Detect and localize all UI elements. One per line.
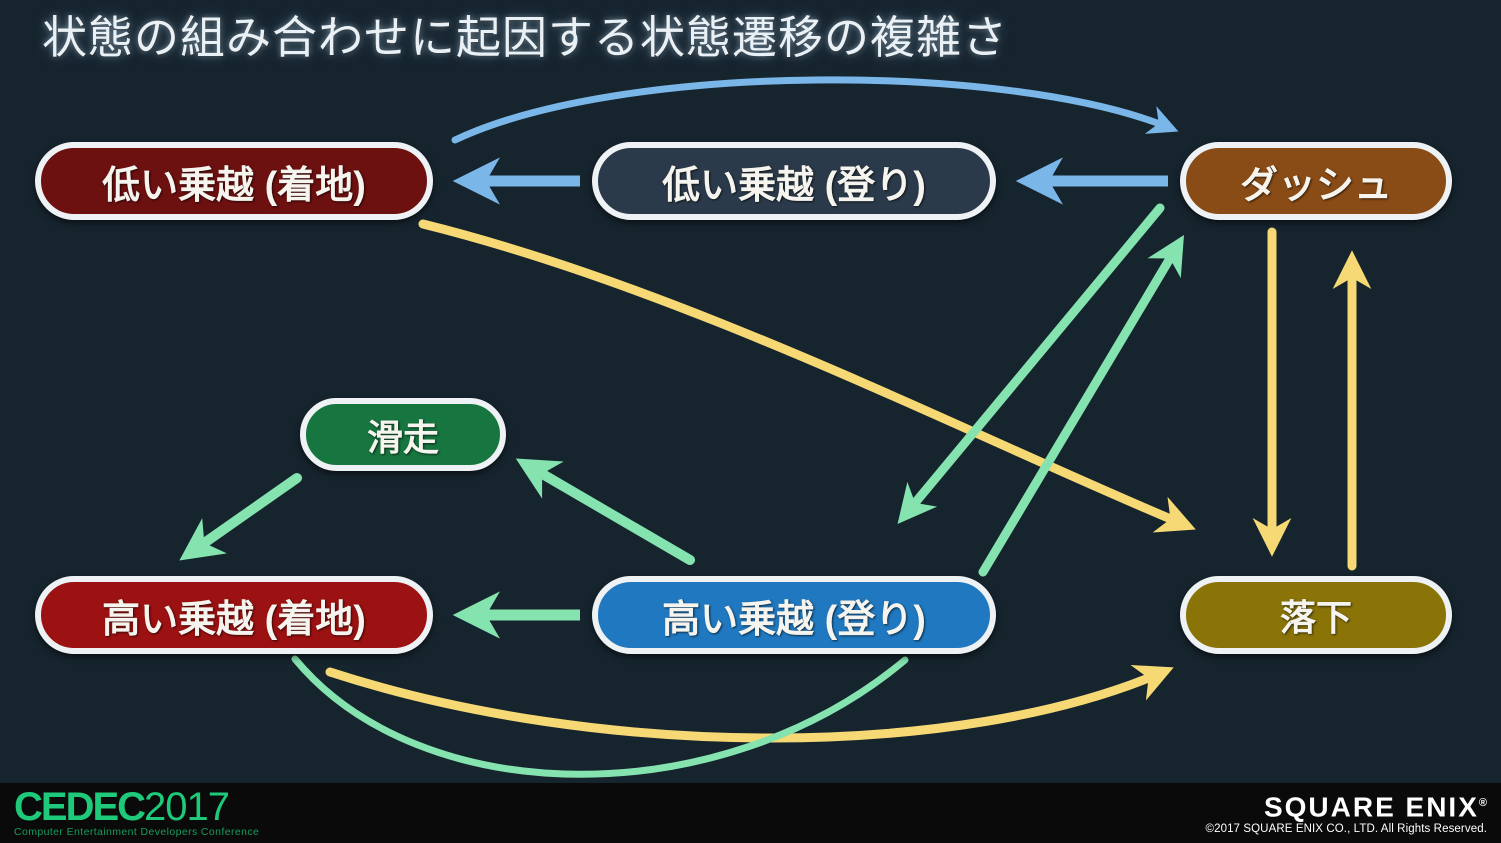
square-enix-wordmark: SQUARE ENIX® xyxy=(1206,788,1488,822)
registered-trademark-icon: ® xyxy=(1479,797,1487,809)
arrow-low-land-to-fall xyxy=(423,224,1185,525)
cedec-wordmark-year: 2017 xyxy=(144,789,229,825)
arrow-high-climb-to-dash xyxy=(983,245,1178,572)
arrow-slide-to-high-land xyxy=(190,478,297,553)
slide-canvas: 状態の組み合わせに起因する状態遷移の複雑さ xyxy=(0,0,1501,843)
state-node-label: 高い乗越 (着地) xyxy=(102,588,366,643)
state-node-high-vault-land[interactable]: 高い乗越 (着地) xyxy=(35,576,433,654)
state-node-label: ダッシュ xyxy=(1240,154,1392,209)
transition-arrows-layer xyxy=(0,0,1501,843)
state-node-low-vault-climb[interactable]: 低い乗越 (登り) xyxy=(592,142,996,220)
state-node-label: 高い乗越 (登り) xyxy=(662,588,926,643)
slide-footer: CEDEC2017 Computer Entertainment Develop… xyxy=(0,783,1501,843)
square-enix-wordmark-text: SQUARE ENIX xyxy=(1264,791,1479,822)
state-node-label: 滑走 xyxy=(367,409,439,461)
arrow-high-land-to-fall xyxy=(330,672,1163,738)
state-node-label: 低い乗越 (登り) xyxy=(662,154,926,209)
cedec-wordmark: CEDEC2017 xyxy=(14,789,259,825)
state-node-label: 低い乗越 (着地) xyxy=(102,154,366,209)
arrow-high-land-to-high-climb xyxy=(295,659,905,774)
state-node-slide[interactable]: 滑走 xyxy=(300,398,506,471)
state-node-dash[interactable]: ダッシュ xyxy=(1180,142,1452,220)
state-node-label: 落下 xyxy=(1280,589,1352,641)
cedec-tagline: Computer Entertainment Developers Confer… xyxy=(14,826,259,838)
state-node-high-vault-climb[interactable]: 高い乗越 (登り) xyxy=(592,576,996,654)
state-node-fall[interactable]: 落下 xyxy=(1180,576,1452,654)
copyright-notice: ©2017 SQUARE ENIX CO., LTD. All Rights R… xyxy=(1206,823,1488,835)
cedec-wordmark-name: CEDEC xyxy=(14,789,144,825)
cedec-logo: CEDEC2017 Computer Entertainment Develop… xyxy=(14,789,259,838)
arrow-low-land-to-dash xyxy=(455,80,1170,140)
square-enix-logo: SQUARE ENIX® ©2017 SQUARE ENIX CO., LTD.… xyxy=(1206,788,1488,835)
arrow-dash-to-high-climb xyxy=(905,208,1160,515)
arrow-high-climb-to-slide xyxy=(527,465,690,560)
state-node-low-vault-land[interactable]: 低い乗越 (着地) xyxy=(35,142,433,220)
